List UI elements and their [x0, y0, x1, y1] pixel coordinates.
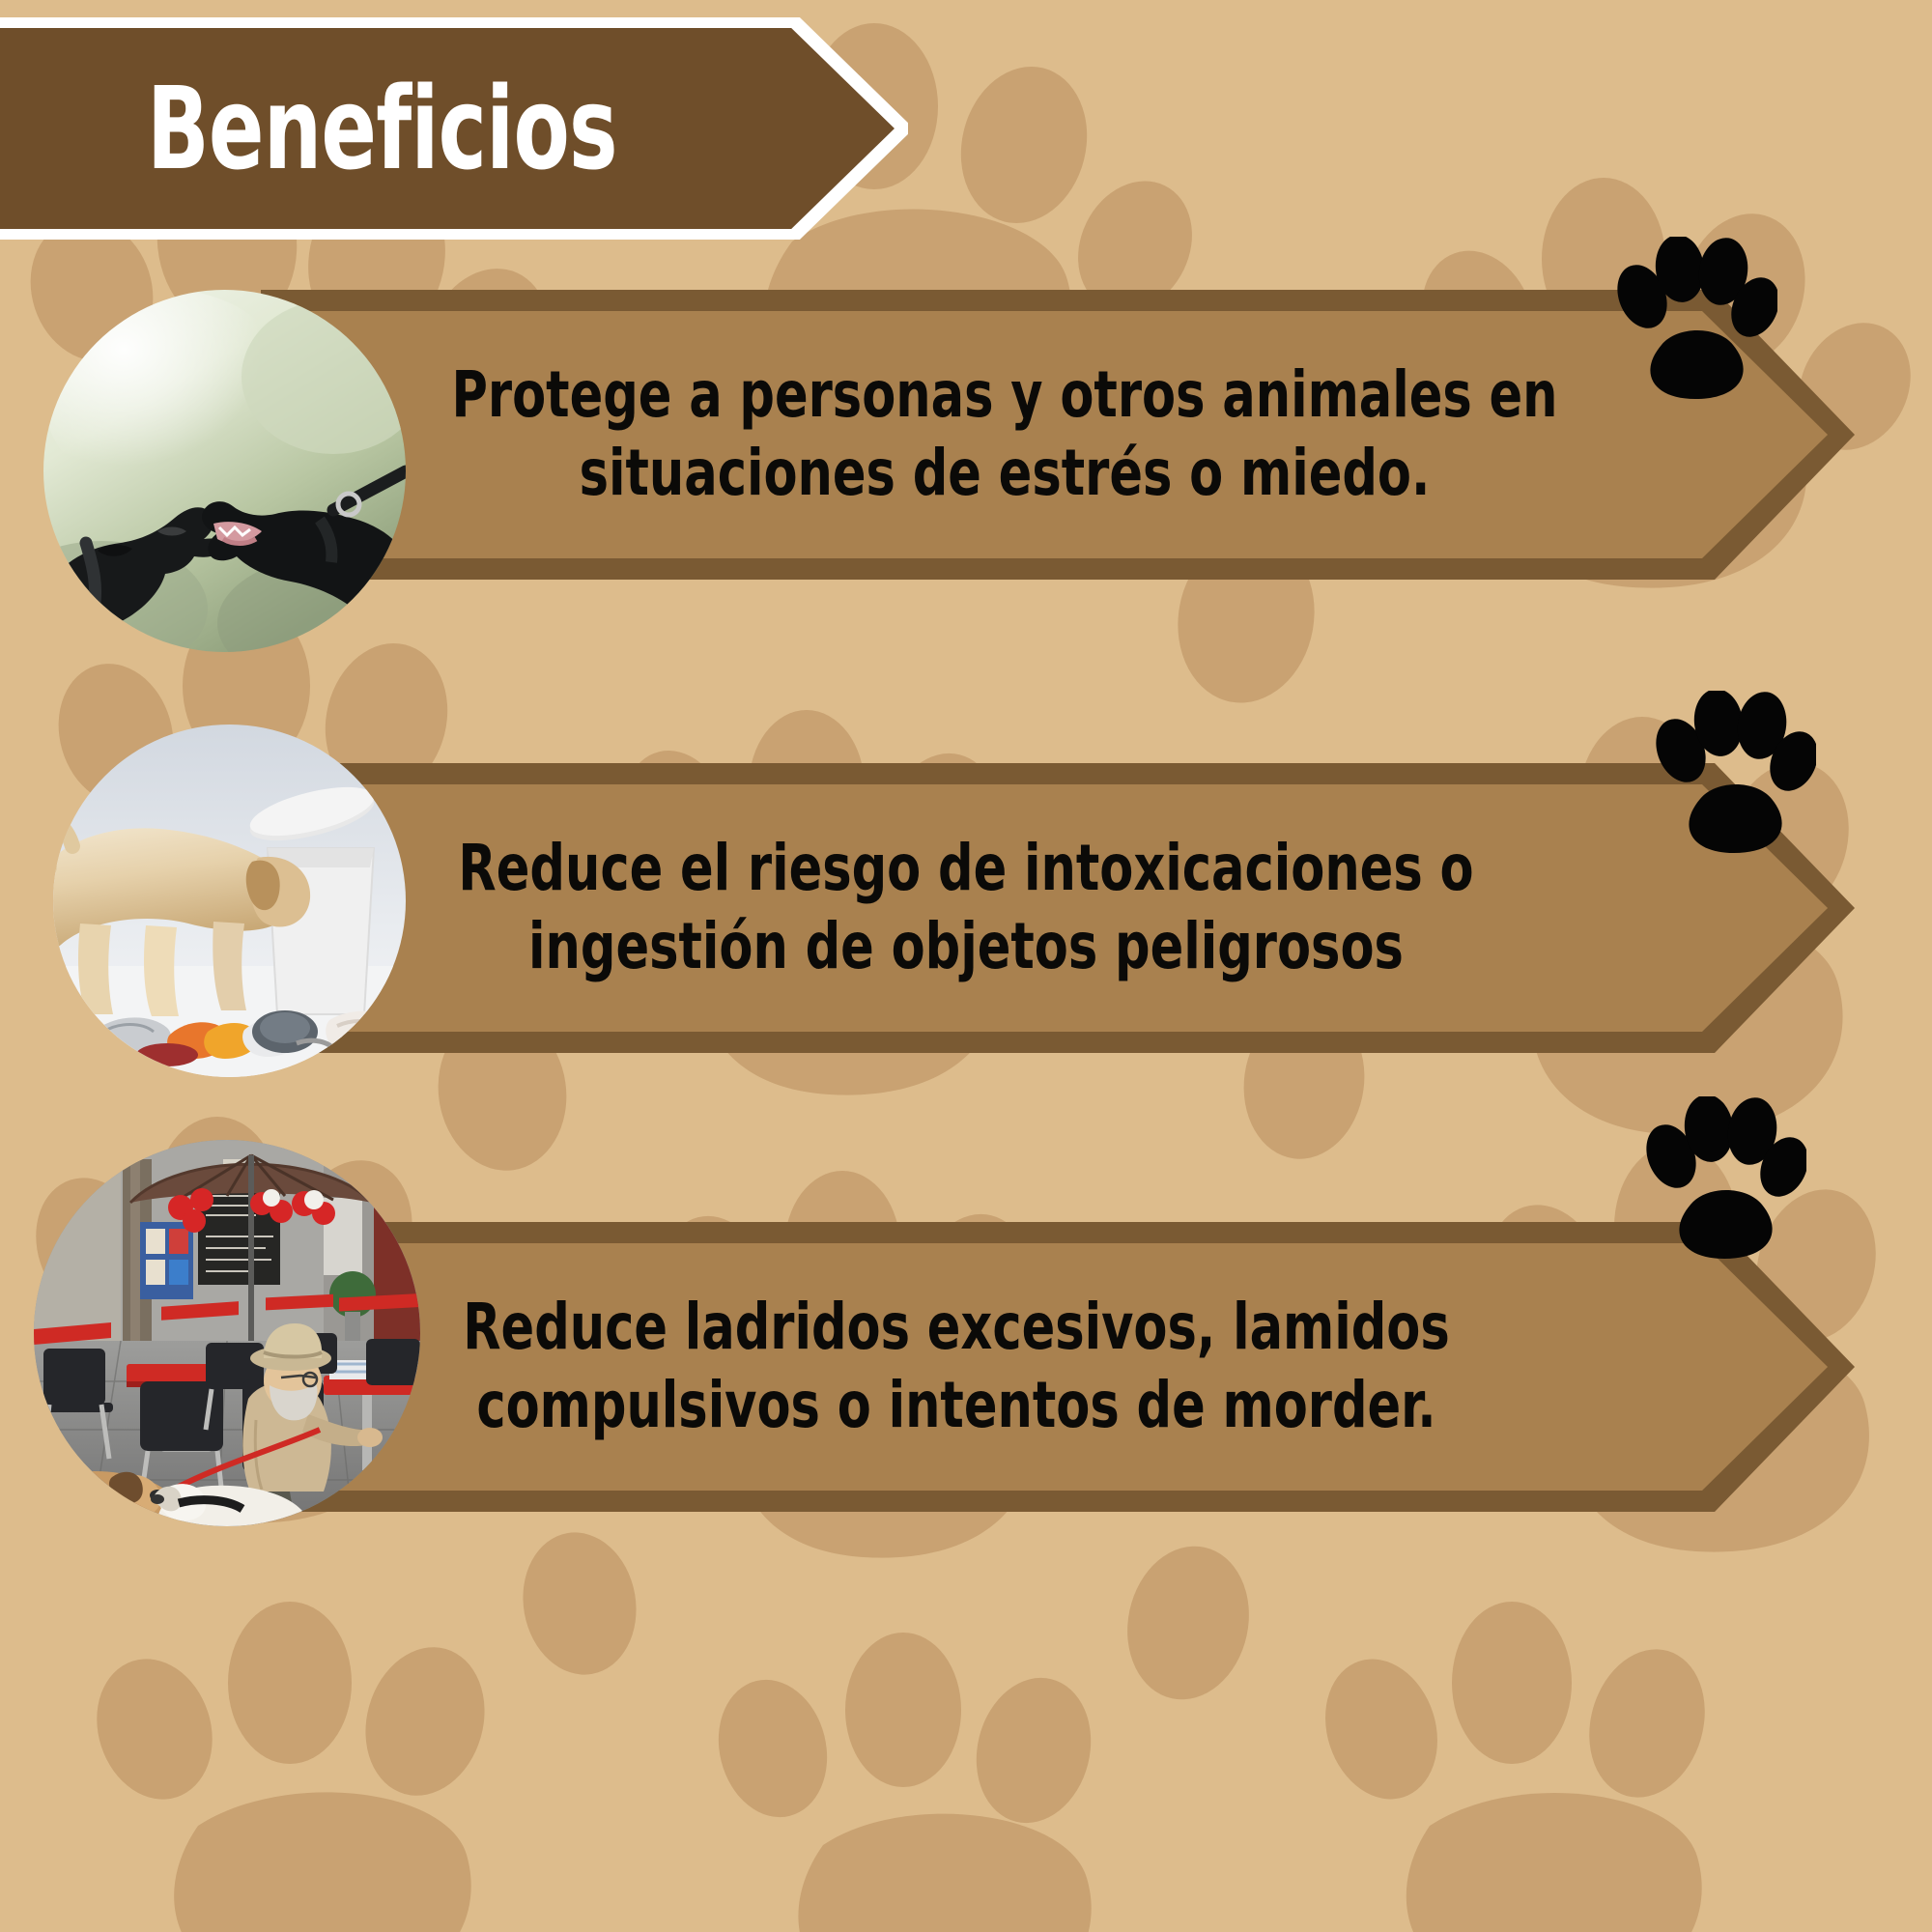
benefit-text-1: Protege a personas y otros animales en s… [531, 290, 1478, 580]
paw-print-icon [1633, 1096, 1806, 1261]
benefit-text-2: Reduce el riesgo de intoxicaciones o ing… [500, 763, 1431, 1053]
benefit-text-1-line2: situaciones de estrés o miedo. [580, 435, 1431, 513]
benefit-image-1 [43, 290, 406, 652]
infographic-canvas: Beneficios Protege a personas y otros an… [0, 0, 1932, 1932]
benefit-image-3 [34, 1140, 420, 1526]
benefit-text-1-line1: Protege a personas y otros animales en [451, 356, 1557, 435]
benefit-text-2-line1: Reduce el riesgo de intoxicaciones o [458, 830, 1473, 908]
benefit-image-2 [53, 724, 406, 1077]
benefit-text-3-line1: Reduce ladridos excesivos, lamidos [463, 1289, 1450, 1367]
benefit-text-2-line2: ingestión de objetos peligrosos [528, 908, 1404, 986]
page-title: Beneficios [0, 17, 680, 240]
benefit-text-3-line2: compulsivos o intentos de morder. [476, 1367, 1435, 1445]
paw-print-icon [1604, 237, 1777, 401]
paw-print-icon [1642, 691, 1816, 855]
benefit-text-3: Reduce ladridos excesivos, lamidos compu… [491, 1222, 1421, 1512]
